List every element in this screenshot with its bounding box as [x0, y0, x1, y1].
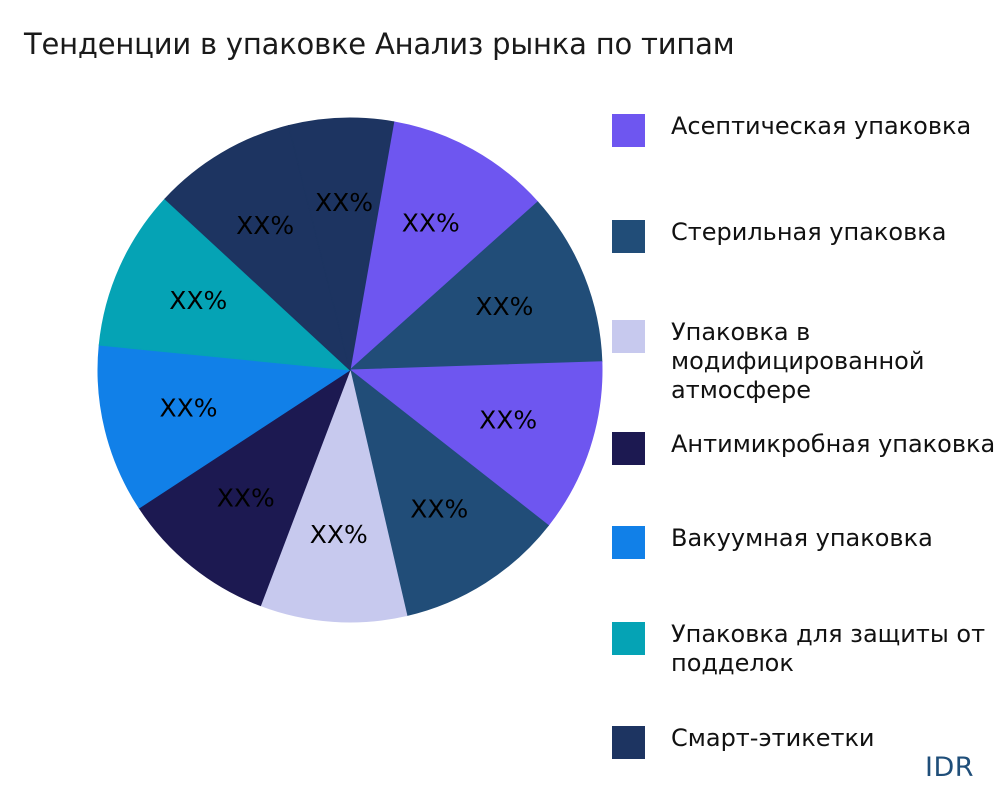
legend-item[interactable]: Антимикробная упаковка [612, 430, 1000, 465]
pie-slice-label: XX% [479, 406, 537, 435]
pie-slice-label: XX% [217, 484, 275, 513]
pie-chart: XX%XX%XX%XX%XX%XX%XX%XX%XX%XX% [60, 100, 650, 660]
legend-color-swatch-icon [612, 622, 645, 655]
legend-item[interactable]: Стерильная упаковка [612, 218, 1000, 253]
legend-item-label: Асептическая упаковка [671, 112, 971, 141]
legend-item[interactable]: Упаковка в модифицированной атмосфере [612, 318, 1000, 405]
idr-watermark: IDR [925, 752, 974, 783]
pie-chart-svg: XX%XX%XX%XX%XX%XX%XX%XX%XX%XX% [60, 100, 650, 660]
legend-color-swatch-icon [612, 432, 645, 465]
legend-item[interactable]: Упаковка для защиты от подделок [612, 620, 1000, 678]
legend-color-swatch-icon [612, 320, 645, 353]
legend-item-label: Смарт-этикетки [671, 724, 875, 753]
legend-color-swatch-icon [612, 220, 645, 253]
legend-item-label: Упаковка в модифицированной атмосфере [671, 318, 924, 405]
page-title: Тенденции в упаковке Анализ рынка по тип… [24, 26, 734, 62]
pie-slice-label: XX% [475, 292, 533, 321]
legend-color-swatch-icon [612, 114, 645, 147]
legend-item[interactable]: Асептическая упаковка [612, 112, 1000, 147]
pie-slice-label: XX% [310, 520, 368, 549]
legend-color-swatch-icon [612, 526, 645, 559]
legend-item[interactable]: Вакуумная упаковка [612, 524, 1000, 559]
legend-item-label: Антимикробная упаковка [671, 430, 995, 459]
legend-item-label: Стерильная упаковка [671, 218, 946, 247]
legend-color-swatch-icon [612, 726, 645, 759]
pie-slice-label: XX% [169, 286, 227, 315]
chart-legend: Асептическая упаковкаСтерильная упаковка… [612, 112, 1000, 772]
chart-figure: Тенденции в упаковке Анализ рынка по тип… [0, 0, 1000, 800]
legend-item-label: Вакуумная упаковка [671, 524, 933, 553]
pie-slice-label: XX% [410, 494, 468, 523]
pie-slice-label: XX% [236, 211, 294, 240]
pie-slice-label: XX% [315, 188, 373, 217]
pie-slice-label: XX% [402, 209, 460, 238]
legend-item-label: Упаковка для защиты от подделок [671, 620, 985, 678]
pie-slice-label: XX% [159, 394, 217, 423]
